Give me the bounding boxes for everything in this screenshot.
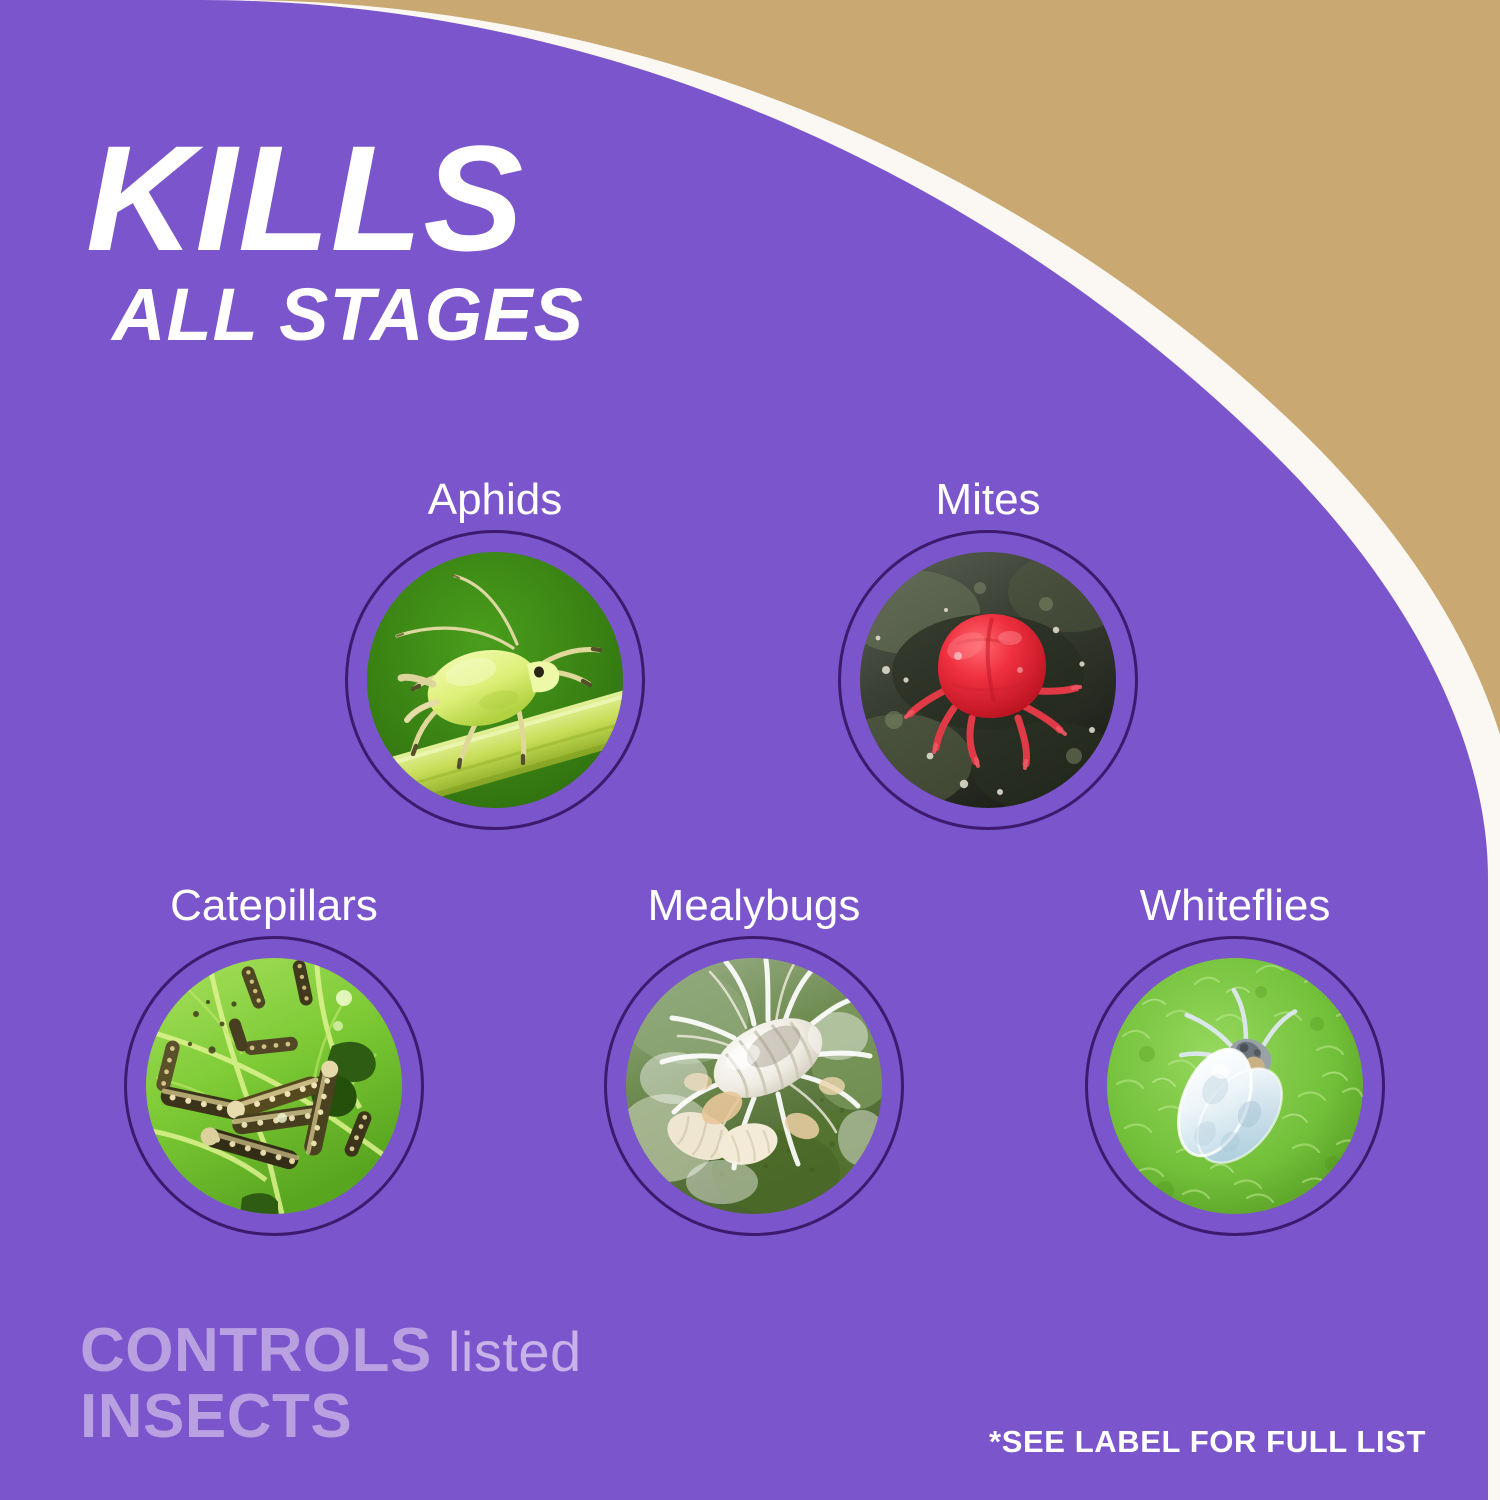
headline-main: KILLS [86,126,584,270]
pest-photo-mites [860,552,1116,808]
pest-photo-catepillars [146,958,402,1214]
pest-badge-aphids[interactable]: Aphids [345,478,645,830]
controls-strong-text: CONTROLS [80,1316,432,1385]
pest-label-mealybugs: Mealybugs [604,884,904,928]
pest-label-whiteflies: Whiteflies [1085,884,1385,928]
pest-label-aphids: Aphids [345,478,645,522]
pest-badge-mealybugs[interactable]: Mealybugs [604,884,904,1236]
pest-badge-whiteflies[interactable]: Whiteflies [1085,884,1385,1236]
pest-photo-aphids [367,552,623,808]
pest-photo-mealybugs [626,958,882,1214]
pest-circle-whiteflies [1085,936,1385,1236]
controls-light-text [432,1320,448,1383]
controls-line-2: INSECTS [80,1384,582,1450]
headline-block: KILLS ALL STAGES [86,126,584,352]
footnote-see-label: *SEE LABEL FOR FULL LIST [989,1424,1426,1460]
pest-label-mites: Mites [838,478,1138,522]
headline-sub: ALL STAGES [112,278,584,352]
pest-circle-mealybugs [604,936,904,1236]
insects-strong-text: INSECTS [80,1382,352,1451]
pest-badge-catepillars[interactable]: Catepillars [124,884,424,1236]
pest-photo-whiteflies [1107,958,1363,1214]
controls-listed-text: listed [448,1320,582,1383]
controls-line-1: CONTROLS listed [80,1318,582,1384]
pest-circle-catepillars [124,936,424,1236]
controls-insects-watermark: CONTROLS listed INSECTS [80,1318,582,1449]
pest-circle-aphids [345,530,645,830]
pest-badge-mites[interactable]: Mites [838,478,1138,830]
pest-control-infographic: KILLS ALL STAGES Aphids [0,0,1500,1500]
pest-label-catepillars: Catepillars [124,884,424,928]
pest-circle-mites [838,530,1138,830]
